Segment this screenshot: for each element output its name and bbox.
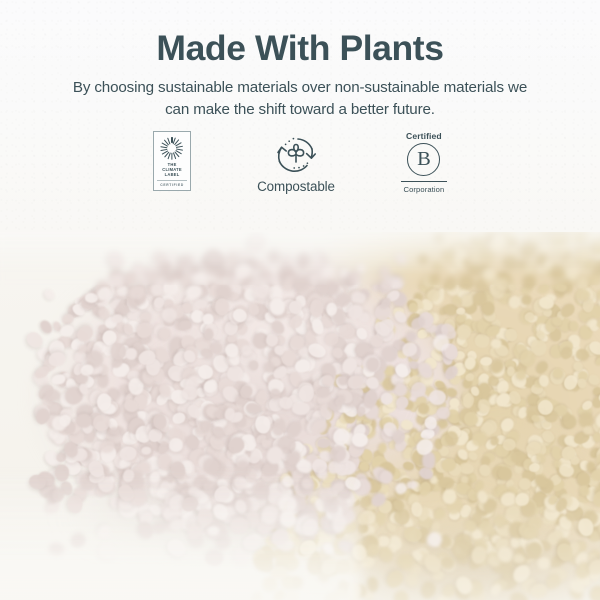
b-corp-rule (401, 181, 447, 183)
climate-label-text: THE CLIMATE LABEL (162, 162, 182, 177)
granule (264, 362, 275, 373)
b-corp-certified-text: Certified (406, 131, 442, 141)
granule (552, 367, 563, 378)
granule (48, 542, 64, 555)
granule (285, 590, 299, 600)
granule (538, 374, 549, 387)
granule (317, 438, 330, 448)
certification-badge-row: THE CLIMATE LABEL CERTIFIED (0, 131, 600, 213)
b-corp-corporation-text: Corporation (404, 185, 445, 194)
badge-b-corp: Certified B Corporation (401, 131, 447, 194)
badge-climate-label: THE CLIMATE LABEL CERTIFIED (153, 131, 191, 191)
granule (384, 568, 407, 591)
page-subtitle: By choosing sustainable materials over n… (65, 77, 535, 120)
b-corp-letter-icon: B (407, 143, 440, 176)
sunburst-icon (160, 136, 184, 160)
granule (522, 294, 532, 305)
granule (573, 231, 587, 242)
granule (588, 584, 600, 600)
hero-panel: Made With Plants By choosing sustainable… (0, 0, 600, 232)
granule (164, 536, 189, 560)
badge-compostable: Compostable (257, 131, 335, 194)
granule (207, 526, 220, 536)
granule (429, 390, 446, 405)
granule (593, 236, 600, 246)
climate-label-line-3: LABEL (162, 172, 182, 177)
granule (204, 328, 213, 340)
granule (456, 324, 471, 340)
granule (393, 589, 411, 600)
granule (478, 463, 493, 478)
granule (168, 438, 182, 452)
granule (357, 512, 369, 525)
granule (535, 360, 550, 376)
granule (135, 519, 156, 541)
granule (316, 468, 327, 480)
granule (467, 450, 480, 462)
granule (406, 481, 417, 489)
compostable-label: Compostable (257, 179, 335, 194)
climate-label-frame: THE CLIMATE LABEL CERTIFIED (153, 131, 191, 191)
granule (203, 380, 215, 393)
granule (569, 320, 579, 332)
granule (182, 386, 198, 400)
granule (205, 551, 223, 566)
granule (419, 580, 438, 600)
granule (215, 298, 229, 315)
granule (291, 401, 309, 414)
compostable-clover-recycle-icon (267, 131, 325, 177)
granule (158, 327, 173, 342)
granule (179, 320, 192, 331)
granule (430, 259, 443, 272)
granule (42, 287, 56, 301)
granule (310, 300, 323, 318)
granule (55, 464, 69, 481)
climate-label-certified: CERTIFIED (157, 180, 187, 187)
granule (366, 543, 380, 556)
granule (355, 326, 369, 341)
granule (432, 506, 447, 521)
granule (507, 366, 515, 376)
granule (69, 531, 89, 550)
granule (105, 248, 128, 271)
granule (594, 356, 600, 367)
granule (574, 288, 590, 301)
granule (296, 252, 312, 270)
granule (417, 253, 429, 265)
granule (94, 522, 113, 542)
granule (390, 277, 404, 289)
granule (250, 591, 264, 600)
granule (586, 373, 600, 387)
granule (267, 250, 281, 264)
granule (245, 230, 269, 255)
granule (38, 319, 55, 337)
granule (124, 347, 136, 359)
granule (240, 344, 252, 356)
granule (520, 351, 535, 367)
page-title: Made With Plants (0, 30, 600, 68)
granule (523, 274, 537, 288)
granule (393, 251, 409, 267)
granule (440, 556, 455, 569)
granule (95, 539, 119, 563)
granule (250, 360, 259, 370)
granule (434, 231, 443, 241)
product-banner: Made With Plants By choosing sustainable… (0, 0, 600, 600)
